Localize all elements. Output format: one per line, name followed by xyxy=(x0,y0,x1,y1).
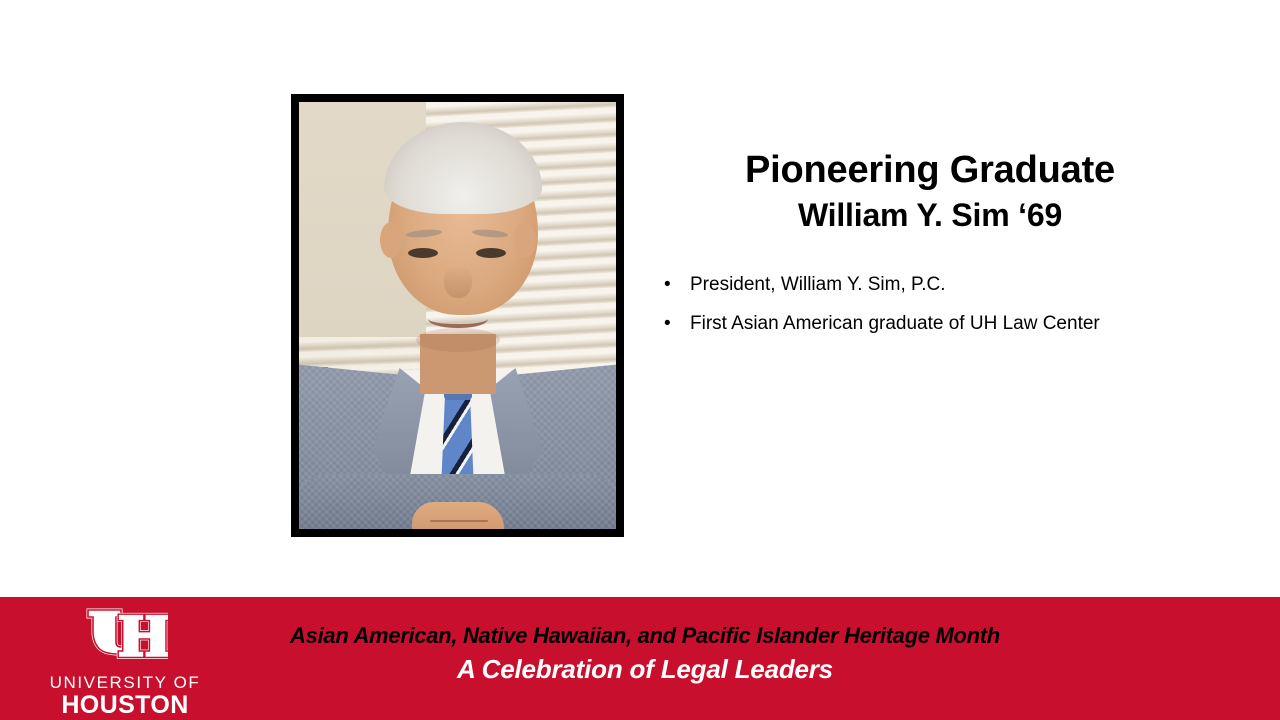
nose xyxy=(444,264,472,298)
list-item: • First Asian American graduate of UH La… xyxy=(664,311,1224,337)
banner-subtitle-text: A Celebration of Legal Leaders xyxy=(230,651,1060,687)
uh-law-center-logo: UNIVERSITY OF HOUSTON LAW CENTER xyxy=(40,605,210,720)
eye-right xyxy=(476,248,506,258)
footer-banner: UNIVERSITY OF HOUSTON LAW CENTER Asian A… xyxy=(0,597,1280,720)
hand-detail xyxy=(430,520,488,522)
logo-houston-text: HOUSTON xyxy=(40,692,210,719)
list-item-label: President, William Y. Sim, P.C. xyxy=(690,272,946,298)
portrait-photo-frame xyxy=(291,94,624,537)
banner-text-block: Asian American, Native Hawaiian, and Pac… xyxy=(230,621,1060,687)
uh-monogram-icon xyxy=(82,605,168,667)
eye-left xyxy=(408,248,438,258)
page-title: Pioneering Graduate xyxy=(640,146,1220,194)
bullet-marker-icon: • xyxy=(664,272,690,298)
ear-right xyxy=(514,222,536,258)
clasped-hands xyxy=(412,502,504,529)
slide-title-block: Pioneering Graduate William Y. Sim ‘69 xyxy=(640,146,1220,236)
mouth xyxy=(428,308,488,328)
ear-left xyxy=(380,222,402,258)
presentation-slide: Pioneering Graduate William Y. Sim ‘69 •… xyxy=(0,0,1280,720)
banner-heritage-month-text: Asian American, Native Hawaiian, and Pac… xyxy=(230,621,1060,651)
logo-university-text: UNIVERSITY OF xyxy=(40,673,210,692)
page-subtitle: William Y. Sim ‘69 xyxy=(640,194,1220,236)
list-item: • President, William Y. Sim, P.C. xyxy=(664,272,1224,298)
chin-shadow xyxy=(416,328,500,352)
bullet-list: • President, William Y. Sim, P.C. • Firs… xyxy=(664,272,1224,350)
bullet-marker-icon: • xyxy=(664,311,690,337)
portrait-photo xyxy=(299,102,616,529)
list-item-label: First Asian American graduate of UH Law … xyxy=(690,311,1100,337)
